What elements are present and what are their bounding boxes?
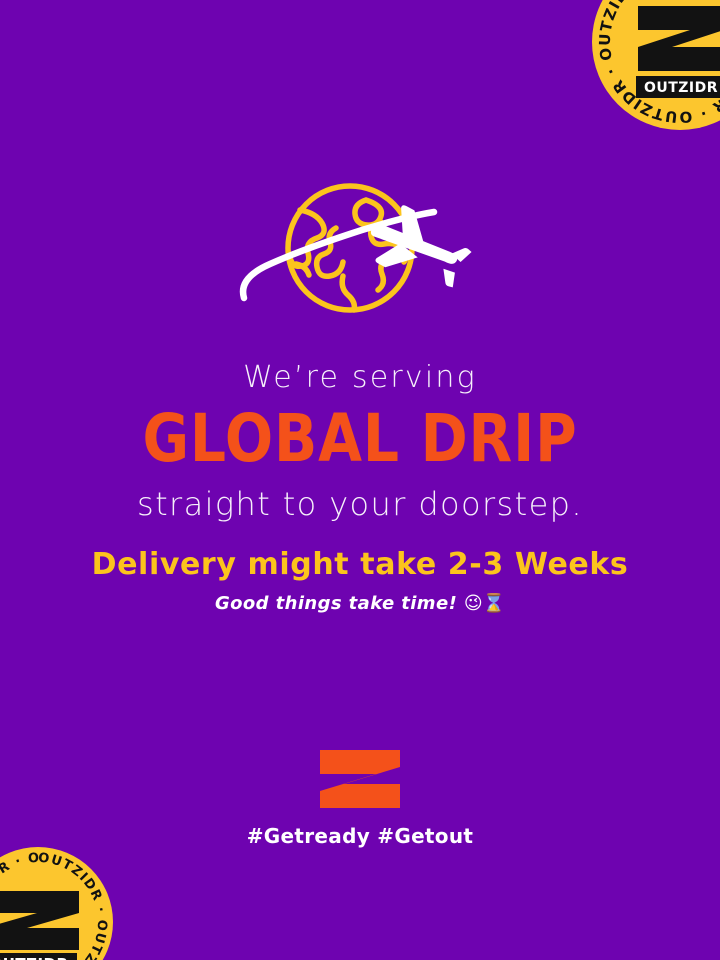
delivery-notice-block: Delivery might take 2-3 Weeks Good thing…: [0, 548, 720, 614]
brand-stamp-badge-bottom-left: OUTZIDR · OUTZIDR · OUTZIDR · OUTZIDR · …: [0, 847, 113, 960]
eyebrow-text: We’re serving: [0, 362, 720, 394]
footer-lockup: #Getready #Getout: [0, 748, 720, 848]
subheadline-text: straight to your doorstep.: [0, 488, 720, 522]
page-title: GLOBAL DRIP: [50, 406, 669, 472]
delivery-note-text: Good things take time!: [215, 593, 457, 614]
brand-stamp-svg: OUTZIDR · OUTZIDR · OUTZIDR · OUTZIDR · …: [592, 0, 720, 130]
svg-text:OUTZIDR: OUTZIDR: [0, 955, 69, 960]
promo-poster: OUTZIDR · OUTZIDR · OUTZIDR · OUTZIDR · …: [0, 0, 720, 960]
delivery-note: Good things take time! 😉⌛: [0, 593, 720, 614]
globe-airplane-icon: [238, 176, 482, 336]
delivery-estimate-text: Delivery might take 2-3 Weeks: [0, 548, 720, 581]
wink-hourglass-emoji: 😉⌛: [464, 593, 505, 614]
badge-wordmark: OUTZIDR: [0, 953, 77, 960]
brand-stamp-svg: OUTZIDR · OUTZIDR · OUTZIDR · OUTZIDR · …: [0, 847, 113, 960]
badge-wordmark: OUTZIDR: [636, 76, 720, 98]
z-logo-mark: [318, 748, 402, 810]
brand-stamp-badge-top-right: OUTZIDR · OUTZIDR · OUTZIDR · OUTZIDR · …: [592, 0, 720, 130]
svg-text:OUTZIDR: OUTZIDR: [644, 80, 718, 96]
hashtags-text: #Getready #Getout: [0, 824, 720, 848]
globe-airplane-svg: [238, 176, 482, 336]
badge-z-mark: [0, 891, 79, 950]
headline-copy-block: We’re serving GLOBAL DRIP straight to yo…: [0, 362, 720, 521]
badge-z-mark: [638, 6, 720, 71]
